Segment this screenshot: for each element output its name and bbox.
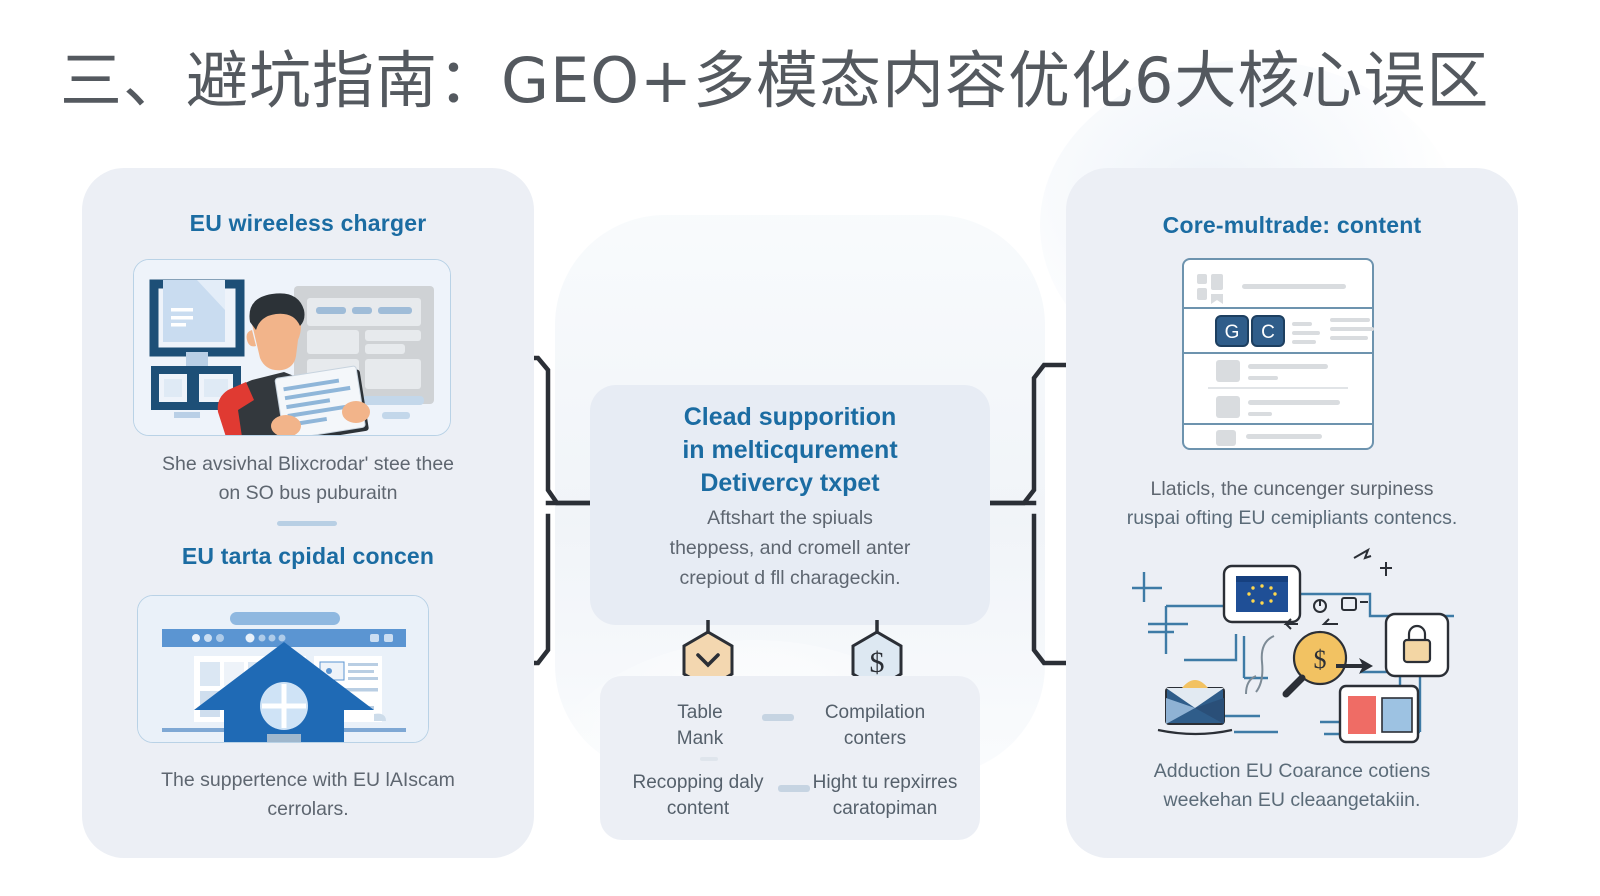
svg-text:$: $ [1314,645,1327,674]
metric-3-line1: Hight tu repxirres [800,770,970,796]
center-body-line1: Aftshart the spiuals [608,503,972,533]
metric-3: Hight tu repxirres caratopiman [800,770,970,822]
metric-3-line2: caratopiman [800,796,970,822]
center-body-line3: crepiout d fll charageckin. [608,563,972,593]
right-bottom-caption-line1: Adduction EU Coarance cotiens [1066,757,1518,786]
left-bottom-caption-line1: The suppertence with EU lAIscam [82,766,534,795]
center-summary-card: Clead supporition in melticqurement Deti… [590,385,990,625]
badge-g-label: G [1225,322,1240,343]
badge-c-label: C [1261,322,1275,343]
infographic-canvas: 三、避坑指南：GEO+多模态内容优化6大核心误区 EU wireeless ch [0,0,1600,896]
browser-window-home-icon-illustration [137,595,429,743]
metric-separator-faint [700,757,718,761]
left-bottom-heading: EU tarta cpidal concen [82,543,534,570]
person-reading-document-illustration [133,259,451,436]
center-title-line2: in melticqurement [590,434,990,467]
metric-2-line1: Recopping daly [618,770,778,796]
left-section-divider [277,521,337,526]
center-card-body: Aftshart the spiuals theppess, and crome… [608,503,972,593]
metric-0-line1: Table [640,700,760,726]
content-list-card-illustration: G C [1180,256,1376,452]
metric-0-line2: Mank [640,726,760,752]
right-top-heading: Core-multrade: content [1066,212,1518,239]
metric-1: Compilation conters [810,700,940,752]
center-body-line2: theppess, and cromell anter [608,533,972,563]
metric-0: Table Mank [640,700,760,752]
left-top-caption-line2: on SO bus puburaitn [82,479,534,508]
center-card-title: Clead supporition in melticqurement Deti… [590,401,990,500]
left-top-heading: EU wireeless charger [82,210,534,237]
metric-1-line2: conters [810,726,940,752]
right-top-caption-line2: ruspai ofting EU cemipliants contencs. [1066,504,1518,533]
metric-separator-top [762,714,794,721]
right-top-caption-line1: Llaticls, the cuncenger surpiness [1066,475,1518,504]
metric-1-line1: Compilation [810,700,940,726]
metric-2-line2: content [618,796,778,822]
left-top-caption-line1: She avsivhal Blixcrodar' stee thee [82,450,534,479]
metric-2: Recopping daly content [618,770,778,822]
center-title-line3: Detivercy txpet [590,467,990,500]
left-bottom-caption-line2: cerrolars. [82,795,534,824]
svg-text:$: $ [870,646,885,679]
eu-compliance-network-illustration: $ [1124,536,1454,746]
right-bottom-caption-line2: weekehan EU cleaangetakiin. [1066,786,1518,815]
center-title-line1: Clead supporition [590,401,990,434]
page-title: 三、避坑指南：GEO+多模态内容优化6大核心误区 [60,30,1560,120]
